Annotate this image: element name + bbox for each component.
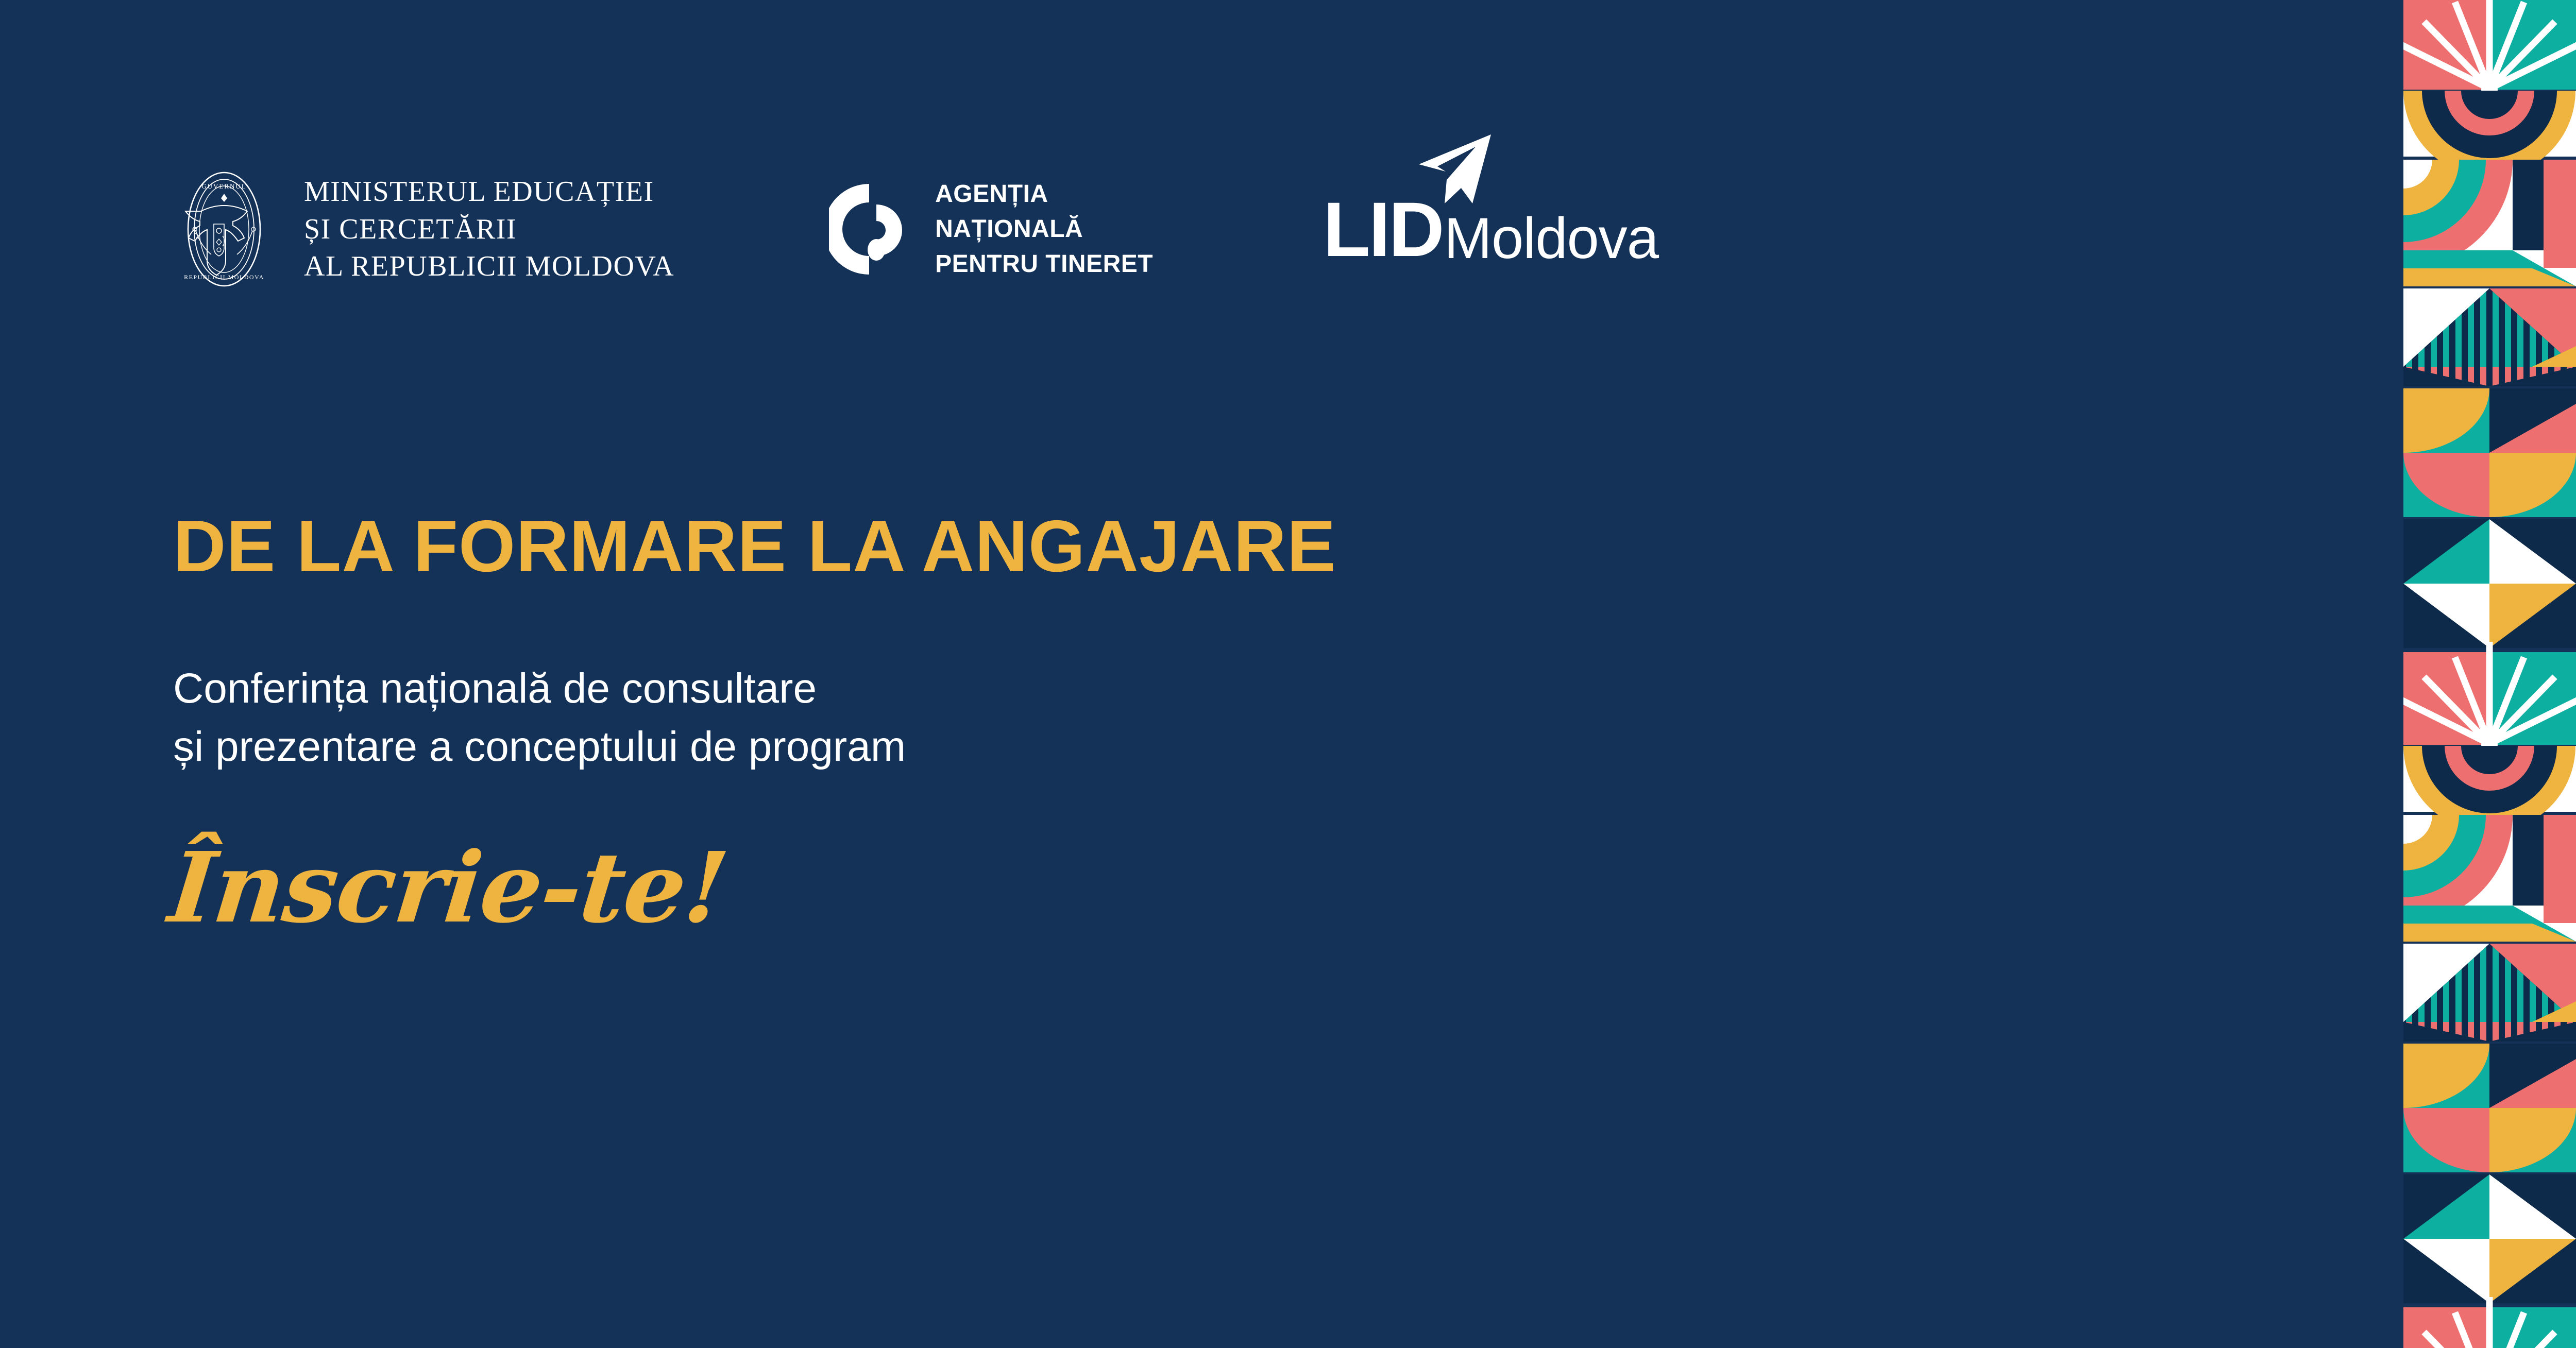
ant-line-2: NAȚIONALĂ [935, 212, 1153, 247]
lid-origami-arrow-icon [1415, 132, 1492, 210]
logo-agentia-nationala-tineret: AGENȚIA NAȚIONALĂ PENTRU TINERET [829, 177, 1153, 282]
page-title: DE LA FORMARE LA ANGAJARE [173, 510, 1336, 583]
ministry-line-3: AL REPUBLICII MOLDOVA [304, 248, 674, 285]
geometric-pattern-column [2403, 0, 2576, 1348]
ant-line-1: AGENȚIA [935, 177, 1153, 212]
logo-lid-moldova: LID Moldova [1323, 195, 1658, 263]
subtitle-line-1: Conferința națională de consultare [173, 659, 906, 718]
ministry-line-1: MINISTERUL EDUCAȚIEI [304, 173, 674, 211]
subtitle-line-2: și prezentare a conceptului de program [173, 718, 906, 776]
logo-row: GUVERNUL REPUBLICII MOLDOVA MINISTERUL E… [165, 160, 1658, 299]
moldova-state-seal-icon: GUVERNUL REPUBLICII MOLDOVA [165, 170, 283, 288]
poster-canvas: GUVERNUL REPUBLICII MOLDOVA MINISTERUL E… [0, 0, 2576, 1348]
ant-line-3: PENTRU TINERET [935, 247, 1153, 282]
ministry-line-2: ȘI CERCETĂRII [304, 211, 674, 248]
svg-text:REPUBLICII MOLDOVA: REPUBLICII MOLDOVA [184, 274, 264, 281]
register-cta-text[interactable]: Înscrie-te! [165, 840, 732, 936]
ant-name: AGENȚIA NAȚIONALĂ PENTRU TINERET [935, 177, 1153, 282]
svg-text:GUVERNUL: GUVERNUL [201, 182, 247, 190]
ministry-name: MINISTERUL EDUCAȚIEI ȘI CERCETĂRII AL RE… [304, 173, 674, 285]
lid-wordmark-light: Moldova [1444, 210, 1658, 267]
logo-ministry-education: GUVERNUL REPUBLICII MOLDOVA MINISTERUL E… [165, 170, 674, 288]
page-subtitle: Conferința națională de consultare și pr… [173, 659, 906, 776]
ant-arc-person-icon [829, 178, 917, 281]
